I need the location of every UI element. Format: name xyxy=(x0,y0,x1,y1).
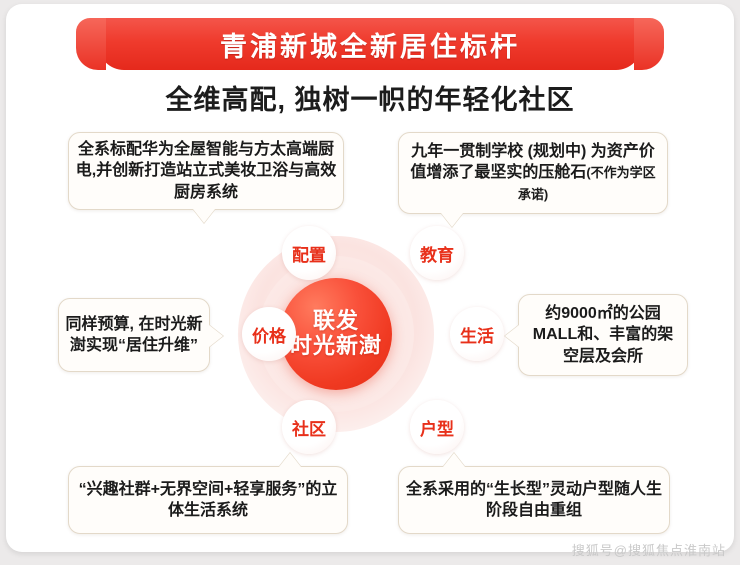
callout-top-right: 九年一贯制学校 (规划中) 为资产价值增添了最坚实的压舱石(不作为学区承诺) xyxy=(398,132,668,214)
node-label-jiaoyu: 教育 xyxy=(420,241,454,266)
node-label-shenghuo: 生活 xyxy=(460,322,494,347)
callout-top-left: 全系标配华为全屋智能与方太高端厨电,并创新打造站立式美妆卫浴与高效厨房系统 xyxy=(68,132,344,210)
callout-tail-top-right xyxy=(441,213,463,227)
content-card: 青浦新城全新居住标杆 全维高配, 独树一帜的年轻化社区 联发 时光新澍 配置 教… xyxy=(6,4,734,552)
node-label-shequ: 社区 xyxy=(292,415,326,440)
banner-ribbon: 青浦新城全新居住标杆 xyxy=(6,4,734,76)
node-circle-jiage[interactable]: 价格 xyxy=(242,307,296,361)
callout-bottom-left-text: “兴趣社群+无界空间+轻享服务”的立体生活系统 xyxy=(69,479,347,521)
node-label-jiage: 价格 xyxy=(252,322,286,347)
callout-tail-right xyxy=(505,325,519,347)
node-circle-shenghuo[interactable]: 生活 xyxy=(450,307,504,361)
node-circle-shequ[interactable]: 社区 xyxy=(282,400,336,454)
callout-left-text: 同样预算, 在时光新澍实现“居住升维” xyxy=(59,314,209,356)
callout-bottom-left: “兴趣社群+无界空间+轻享服务”的立体生活系统 xyxy=(68,466,348,534)
callout-bottom-right: 全系采用的“生长型”灵动户型随人生阶段自由重组 xyxy=(398,466,670,534)
ribbon-body: 青浦新城全新居住标杆 xyxy=(98,18,642,70)
page-subtitle: 全维高配, 独树一帜的年轻化社区 xyxy=(6,78,734,117)
callout-top-right-text: 九年一贯制学校 (规划中) 为资产价值增添了最坚实的压舱石(不作为学区承诺) xyxy=(399,141,667,204)
node-circle-huxing[interactable]: 户型 xyxy=(410,400,464,454)
callout-tail-top-left xyxy=(193,209,215,223)
callout-tail-left xyxy=(209,325,223,347)
infographic-stage: 青浦新城全新居住标杆 全维高配, 独树一帜的年轻化社区 联发 时光新澍 配置 教… xyxy=(0,0,740,565)
callout-tail-bottom-left xyxy=(279,453,301,467)
node-label-huxing: 户型 xyxy=(420,415,454,440)
callout-right-text: 约9000㎡的公园MALL和、丰富的架空层及会所 xyxy=(519,303,687,366)
watermark: 搜狐号@搜狐焦点淮南站 xyxy=(572,540,726,559)
node-circle-peizhi[interactable]: 配置 xyxy=(282,226,336,280)
banner-title: 青浦新城全新居住标杆 xyxy=(220,25,520,64)
callout-left: 同样预算, 在时光新澍实现“居住升维” xyxy=(58,298,210,372)
callout-top-left-text: 全系标配华为全屋智能与方太高端厨电,并创新打造站立式美妆卫浴与高效厨房系统 xyxy=(69,139,343,202)
callout-right: 约9000㎡的公园MALL和、丰富的架空层及会所 xyxy=(518,294,688,376)
callout-tail-bottom-right xyxy=(443,453,465,467)
callout-bottom-right-text: 全系采用的“生长型”灵动户型随人生阶段自由重组 xyxy=(399,479,669,521)
node-circle-jiaoyu[interactable]: 教育 xyxy=(410,226,464,280)
center-line-2: 时光新澍 xyxy=(290,334,382,359)
center-line-1: 联发 xyxy=(313,309,359,334)
center-circle: 联发 时光新澍 xyxy=(280,278,392,390)
node-label-peizhi: 配置 xyxy=(292,241,326,266)
